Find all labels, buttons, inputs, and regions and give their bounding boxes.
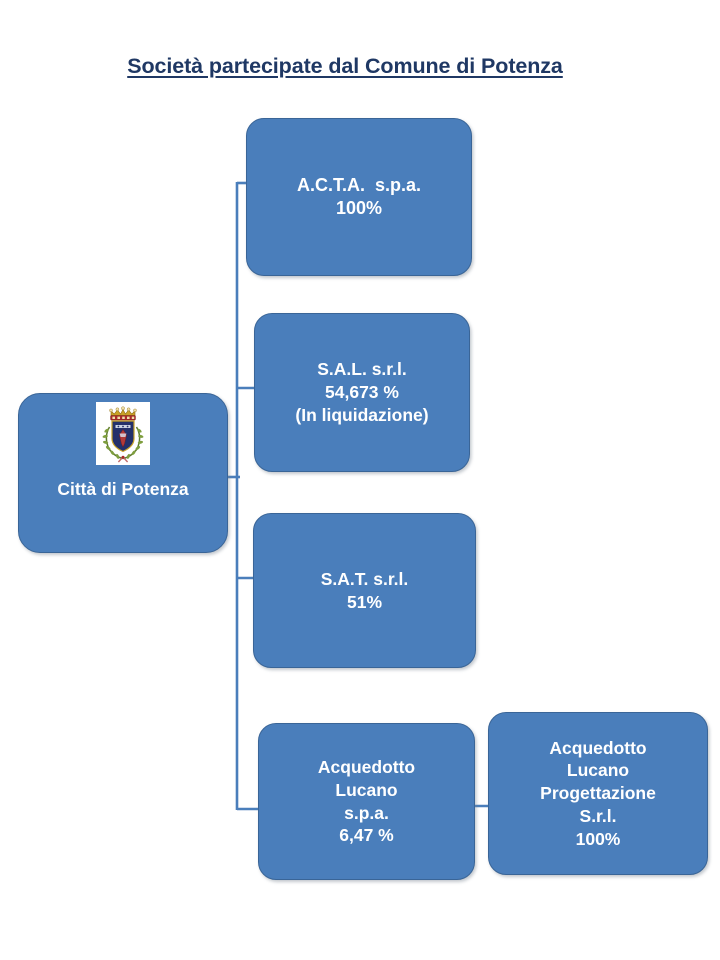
- node-sal-line-2: 54,673 %: [325, 381, 399, 404]
- node-acquedotto-lucano-line-3: s.p.a.: [344, 802, 389, 825]
- node-root-label: Città di Potenza: [57, 478, 188, 501]
- node-sat[interactable]: S.A.T. s.r.l. 51%: [253, 513, 476, 668]
- node-citta-di-potenza[interactable]: Città di Potenza: [18, 393, 228, 553]
- node-alp-line-1: Acquedotto: [549, 737, 646, 760]
- node-acquedotto-lucano-line-2: Lucano: [335, 779, 397, 802]
- page-title: Società partecipate dal Comune di Potenz…: [0, 54, 690, 79]
- node-sal-line-1: S.A.L. s.r.l.: [317, 358, 406, 381]
- node-acquedotto-lucano-line-4: 6,47 %: [339, 824, 393, 847]
- node-alp-line-3: Progettazione: [540, 782, 656, 805]
- node-sat-line-2: 51%: [347, 591, 382, 614]
- node-acta-line-1: A.C.T.A. s.p.a.: [297, 174, 421, 197]
- node-sal[interactable]: S.A.L. s.r.l. 54,673 % (In liquidazione): [254, 313, 470, 472]
- node-alp-line-4: S.r.l.: [580, 805, 617, 828]
- node-acquedotto-lucano[interactable]: Acquedotto Lucano s.p.a. 6,47 %: [258, 723, 475, 880]
- coat-of-arms-potenza-icon: [96, 402, 150, 465]
- node-acta-line-2: 100%: [336, 197, 382, 220]
- node-alp-line-5: 100%: [576, 828, 621, 851]
- node-acquedotto-lucano-progettazione[interactable]: Acquedotto Lucano Progettazione S.r.l. 1…: [488, 712, 708, 875]
- node-acquedotto-lucano-line-1: Acquedotto: [318, 756, 415, 779]
- org-chart-canvas: Società partecipate dal Comune di Potenz…: [0, 0, 720, 960]
- node-acta[interactable]: A.C.T.A. s.p.a. 100%: [246, 118, 472, 276]
- node-sat-line-1: S.A.T. s.r.l.: [321, 568, 409, 591]
- node-sal-line-3: (In liquidazione): [295, 404, 428, 427]
- node-alp-line-2: Lucano: [567, 759, 629, 782]
